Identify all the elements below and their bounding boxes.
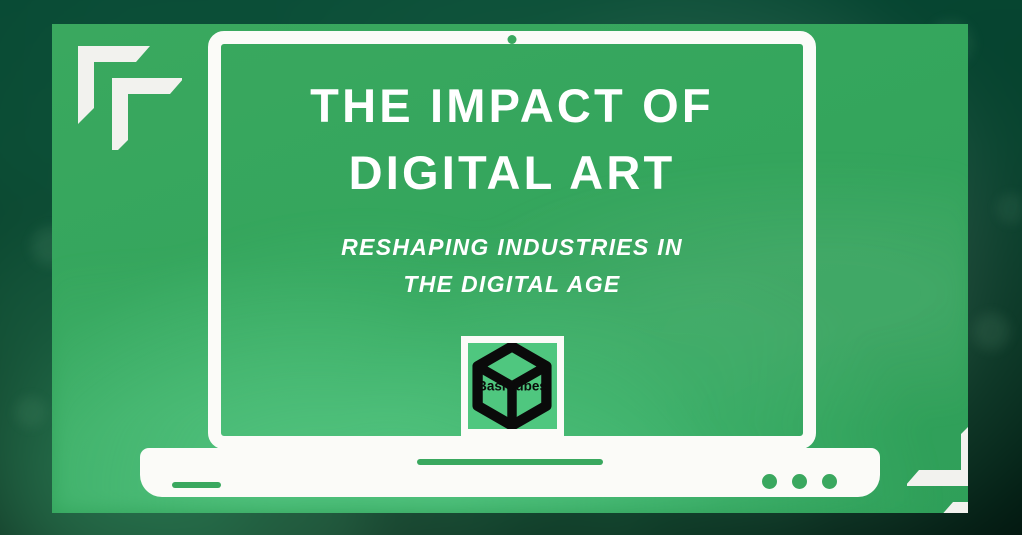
laptop-illustration: THE IMPACT OF DIGITAL ART RESHAPING INDU… xyxy=(52,24,968,513)
green-poster-panel: THE IMPACT OF DIGITAL ART RESHAPING INDU… xyxy=(52,24,968,513)
trackpad-indicator xyxy=(417,459,603,465)
laptop-base xyxy=(140,448,880,497)
page-title: THE IMPACT OF DIGITAL ART xyxy=(310,73,714,206)
page-subtitle: RESHAPING INDUSTRIES IN THE DIGITAL AGE xyxy=(341,229,683,302)
base-dot xyxy=(822,474,837,489)
screen-content: THE IMPACT OF DIGITAL ART RESHAPING INDU… xyxy=(221,44,803,436)
base-dot xyxy=(792,474,807,489)
logo-inner-panel: BasiCubes xyxy=(468,343,557,429)
base-dot xyxy=(762,474,777,489)
camera-dot-icon xyxy=(508,35,517,44)
poster-stage: THE IMPACT OF DIGITAL ART RESHAPING INDU… xyxy=(0,0,1022,535)
brand-name-label: BasiCubes xyxy=(468,379,557,393)
base-right-dots xyxy=(762,474,837,489)
brand-logo: BasiCubes xyxy=(461,336,564,436)
laptop-screen-frame: THE IMPACT OF DIGITAL ART RESHAPING INDU… xyxy=(208,31,816,449)
base-left-dash xyxy=(172,482,221,488)
